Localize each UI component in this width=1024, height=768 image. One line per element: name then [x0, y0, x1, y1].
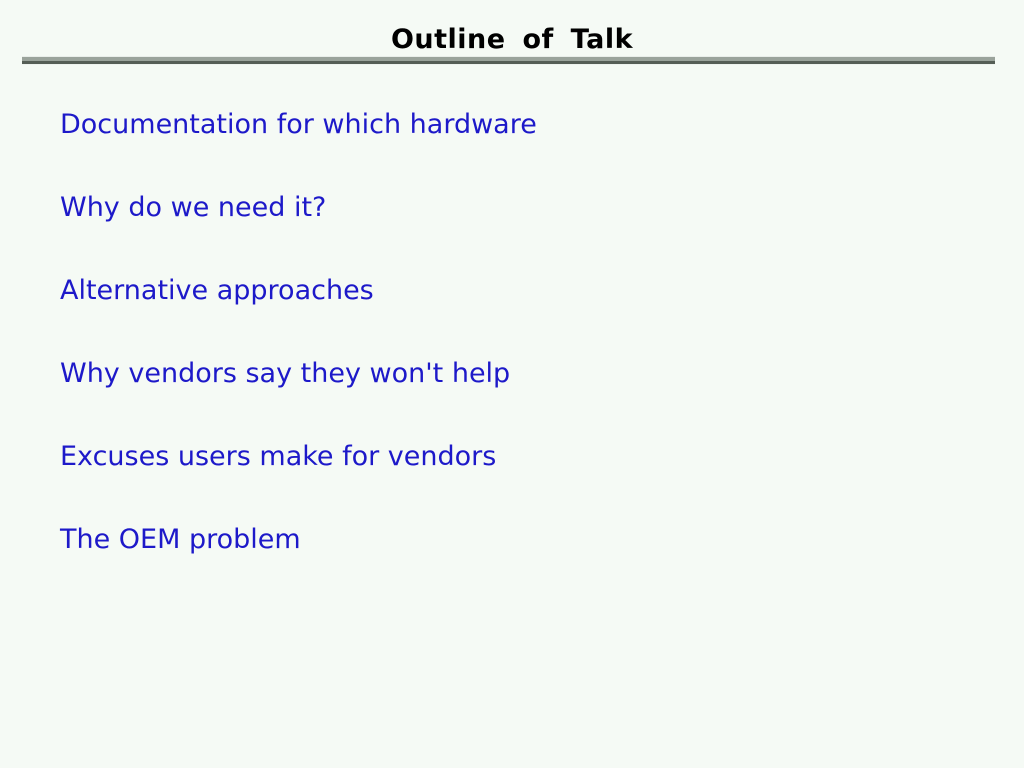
list-item-label: Documentation for which hardware	[60, 108, 537, 142]
list-item-label: Excuses users make for vendors	[60, 440, 496, 474]
title-divider	[22, 56, 995, 65]
list-item-label: Alternative approaches	[60, 274, 374, 308]
list-item: Documentation for which hardware	[60, 108, 980, 191]
page-title: Outline of Talk	[0, 24, 1024, 56]
list-item: Why do we need it?	[60, 191, 980, 274]
outline-list: Documentation for which hardware Why do …	[60, 108, 980, 606]
list-item-label: Why vendors say they won't help	[60, 357, 510, 391]
list-item: The OEM problem	[60, 523, 980, 606]
list-item-label: Why do we need it?	[60, 191, 326, 225]
list-item-label: The OEM problem	[60, 523, 301, 557]
list-item: Alternative approaches	[60, 274, 980, 357]
divider-base-line	[22, 64, 995, 65]
slide-canvas: Outline of Talk Documentation for which …	[0, 0, 1024, 768]
list-item: Excuses users make for vendors	[60, 440, 980, 523]
list-item: Why vendors say they won't help	[60, 357, 980, 440]
